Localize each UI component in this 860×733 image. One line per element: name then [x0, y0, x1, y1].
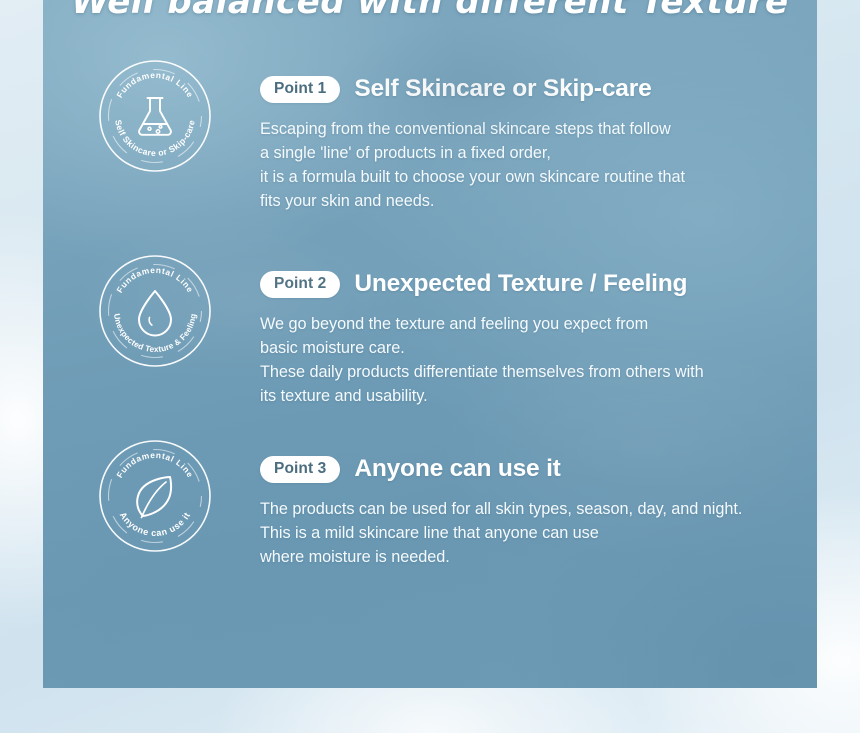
- body-line: We go beyond the texture and feeling you…: [260, 312, 817, 336]
- feature-card: Well balanced with different Texture Fun…: [43, 0, 817, 688]
- water-drop-icon: [139, 291, 171, 336]
- list-item: Fundamental Line Unexpected Texture & Fe…: [43, 271, 817, 408]
- body-line: its texture and usability.: [260, 384, 817, 408]
- status-badge: Point 3: [260, 456, 340, 483]
- badge-point-2: Fundamental Line Unexpected Texture & Fe…: [93, 249, 217, 373]
- page-title: Well balanced with different Texture: [43, 0, 817, 22]
- point-content-2: Point 2 Unexpected Texture / Feeling We …: [217, 271, 817, 408]
- point-title: Self Skincare or Skip-care: [354, 76, 651, 103]
- point-title: Anyone can use it: [354, 456, 560, 483]
- badge-arc-top-text-3: Fundamental Line: [114, 450, 195, 480]
- point-body-1: Escaping from the conventional skincare …: [260, 117, 817, 213]
- body-line: This is a mild skincare line that anyone…: [260, 521, 817, 545]
- list-item: Fundamental Line Self Skincare or Skip-c…: [43, 76, 817, 213]
- point-heading-3: Point 3 Anyone can use it: [260, 456, 817, 483]
- flask-icon: [139, 98, 171, 135]
- status-badge: Point 2: [260, 271, 340, 298]
- status-badge: Point 1: [260, 76, 340, 103]
- badge-graphic-2: Fundamental Line Unexpected Texture & Fe…: [93, 249, 217, 373]
- point-content-3: Point 3 Anyone can use it The products c…: [217, 456, 817, 569]
- badge-point-1: Fundamental Line Self Skincare or Skip-c…: [93, 54, 217, 178]
- badge-point-3: Fundamental Line Anyone can use it: [93, 434, 217, 558]
- body-line: basic moisture care.: [260, 336, 817, 360]
- list-item: Fundamental Line Anyone can use it Poin: [43, 456, 817, 569]
- body-line: where moisture is needed.: [260, 545, 817, 569]
- badge-arc-bottom-text-2: Unexpected Texture & Feeling: [112, 313, 198, 354]
- body-line: These daily products differentiate thems…: [260, 360, 817, 384]
- point-content-1: Point 1 Self Skincare or Skip-care Escap…: [217, 76, 817, 213]
- badge-graphic-1: Fundamental Line Self Skincare or Skip-c…: [93, 54, 217, 178]
- point-title: Unexpected Texture / Feeling: [354, 271, 687, 298]
- leaf-icon: [137, 477, 171, 518]
- point-body-3: The products can be used for all skin ty…: [260, 497, 817, 569]
- body-line: it is a formula built to choose your own…: [260, 165, 817, 189]
- badge-arc-top-text-1: Fundamental Line: [114, 70, 195, 100]
- body-line: fits your skin and needs.: [260, 189, 817, 213]
- page-background: Well balanced with different Texture Fun…: [0, 0, 860, 733]
- point-heading-1: Point 1 Self Skincare or Skip-care: [260, 76, 817, 103]
- point-heading-2: Point 2 Unexpected Texture / Feeling: [260, 271, 817, 298]
- badge-graphic-3: Fundamental Line Anyone can use it: [93, 434, 217, 558]
- body-line: The products can be used for all skin ty…: [260, 497, 817, 521]
- point-body-2: We go beyond the texture and feeling you…: [260, 312, 817, 408]
- body-line: Escaping from the conventional skincare …: [260, 117, 817, 141]
- body-line: a single 'line' of products in a fixed o…: [260, 141, 817, 165]
